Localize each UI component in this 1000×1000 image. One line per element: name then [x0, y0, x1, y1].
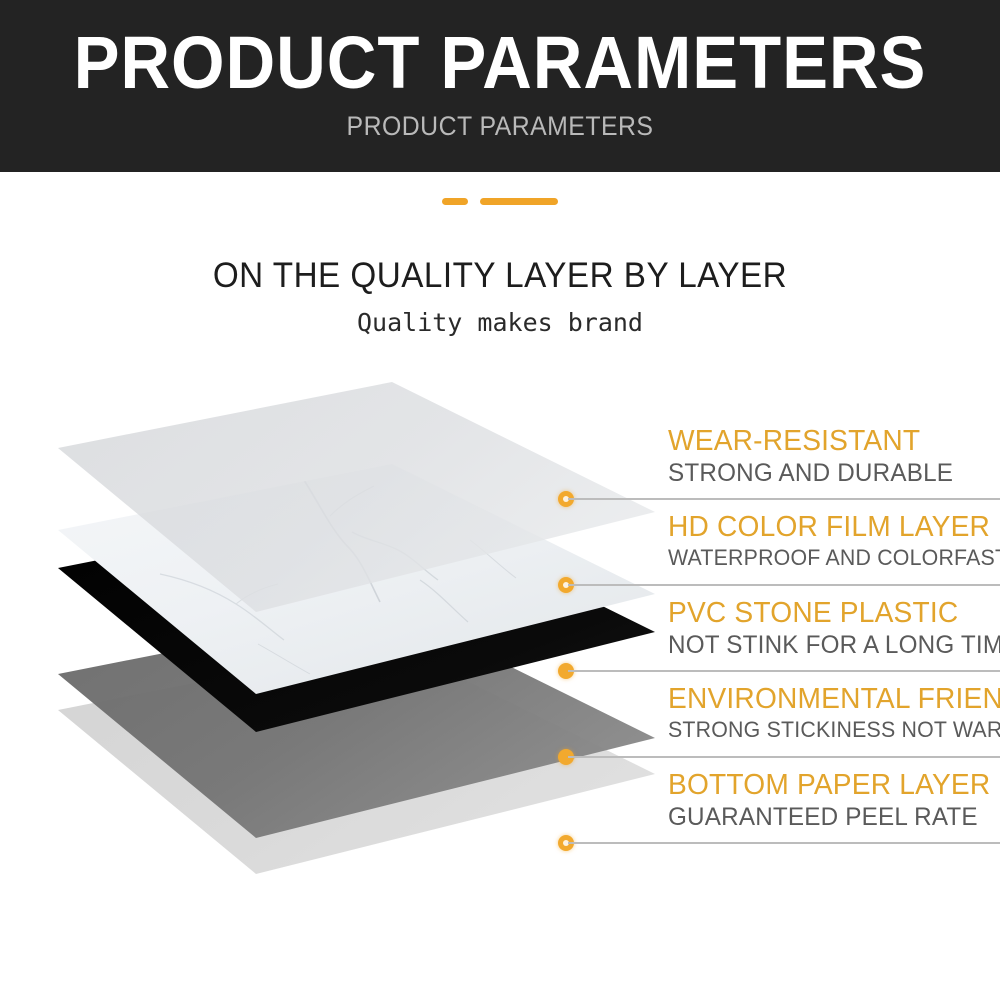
callout-title: PVC STONE PLASTIC — [668, 596, 990, 630]
dash-long-icon — [480, 198, 558, 205]
callout-environmental-friendly[interactable]: ENVIRONMENTAL FRIENDLY STRONG STICKINESS… — [556, 682, 1000, 777]
divider-dashes — [0, 198, 1000, 205]
callout-title: ENVIRONMENTAL FRIENDLY — [668, 682, 990, 716]
page-title: PRODUCT PARAMETERS — [35, 24, 965, 102]
callout-description: WATERPROOF AND COLORFAST — [668, 544, 990, 572]
callout-title: WEAR-RESISTANT — [668, 424, 990, 458]
callout-wear-resistant[interactable]: WEAR-RESISTANT STRONG AND DURABLE — [556, 424, 1000, 519]
page-subtitle: PRODUCT PARAMETERS — [40, 110, 960, 142]
callout-description: STRONG AND DURABLE — [668, 458, 990, 488]
callout-title: BOTTOM PAPER LAYER — [668, 768, 990, 802]
callout-leader-line — [568, 670, 1000, 672]
section-heading: ON THE QUALITY LAYER BY LAYER — [25, 255, 975, 297]
callout-leader-line — [568, 584, 1000, 586]
callout-title: HD COLOR FILM LAYER — [668, 510, 990, 544]
callout-description: GUARANTEED PEEL RATE — [668, 802, 990, 832]
callout-pvc-stone-plastic[interactable]: PVC STONE PLASTIC NOT STINK FOR A LONG T… — [556, 596, 1000, 691]
callout-leader-line — [568, 498, 1000, 500]
callout-bottom-paper-layer[interactable]: BOTTOM PAPER LAYER GUARANTEED PEEL RATE — [556, 768, 1000, 863]
callout-hd-color-film-layer[interactable]: HD COLOR FILM LAYER WATERPROOF AND COLOR… — [556, 510, 1000, 605]
dash-short-icon — [442, 198, 468, 205]
section-subheading: Quality makes brand — [0, 308, 1000, 338]
header-banner: PRODUCT PARAMETERS PRODUCT PARAMETERS — [0, 0, 1000, 172]
product-parameters-infographic: PRODUCT PARAMETERS PRODUCT PARAMETERS ON… — [0, 0, 1000, 1000]
callout-description: NOT STINK FOR A LONG TIME — [668, 630, 990, 660]
callout-leader-line — [568, 756, 1000, 758]
callout-leader-line — [568, 842, 1000, 844]
callout-description: STRONG STICKINESS NOT WARPED — [668, 716, 990, 744]
